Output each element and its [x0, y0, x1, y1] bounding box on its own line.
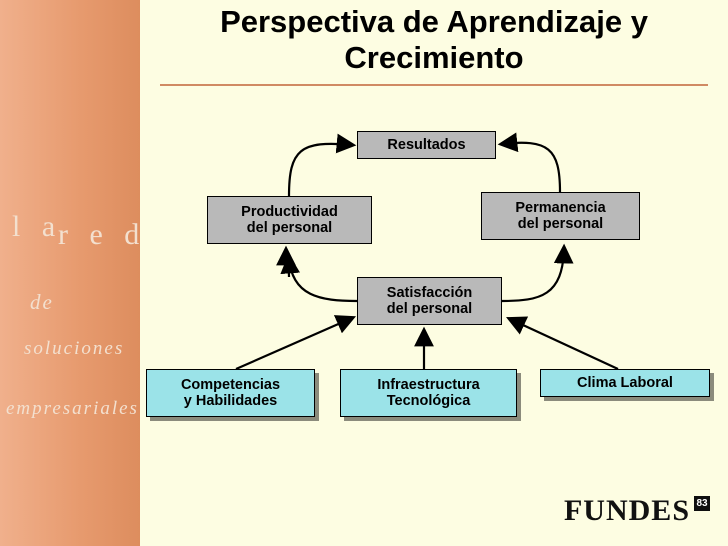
brand-line-empresariales: empresariales [6, 398, 139, 420]
decorative-side-band: l a r e d de soluciones empresariales [0, 0, 140, 546]
fundes-logo: FUNDES 83 [564, 494, 710, 528]
fundes-logo-text: FUNDES [564, 494, 690, 528]
slide: l a r e d de soluciones empresariales Pe… [0, 0, 728, 546]
node-permanencia[interactable]: Permanencia del personal [481, 192, 640, 240]
node-competencias[interactable]: Competencias y Habilidades [146, 369, 315, 417]
node-resultados[interactable]: Resultados [357, 131, 496, 159]
brand-line-soluciones: soluciones [24, 338, 124, 360]
node-clima-laboral[interactable]: Clima Laboral [540, 369, 710, 397]
node-satisfaccion[interactable]: Satisfacción del personal [357, 277, 502, 325]
brand-line-de: de [30, 290, 54, 315]
brand-line-red: r e d [58, 218, 146, 252]
page-title: Perspectiva de Aprendizaje y Crecimiento [150, 4, 718, 76]
brand-line-la: l a [12, 210, 62, 244]
node-infraestructura[interactable]: Infraestructura Tecnológica [340, 369, 517, 417]
title-divider [160, 84, 708, 86]
fundes-logo-mark: 83 [694, 496, 710, 511]
band-gradient [0, 0, 140, 546]
node-productividad[interactable]: Productividad del personal [207, 196, 372, 244]
